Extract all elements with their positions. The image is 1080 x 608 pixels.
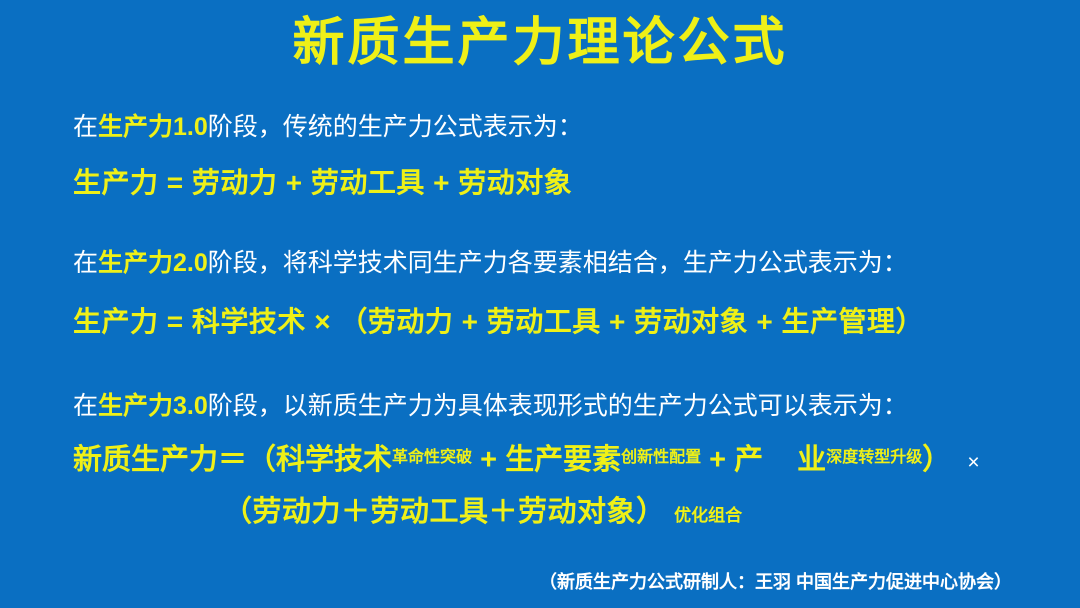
intro-1-prefix: 在 [73,113,98,141]
intro-2-highlight: 生产力2.0 [98,249,208,277]
intro-1-highlight: 生产力1.0 [98,113,208,141]
formula-3-mid-1: + 生产要素 [472,444,621,476]
formula-3-mid-3: 业 [797,444,826,476]
formula-3-line2-main: （劳动力＋劳动工具＋劳动对象） [223,496,666,528]
formula-3-sup-1: 革命性突破 [392,449,472,466]
section-2: 在生产力2.0阶段，将科学技术同生产力各要素相结合，生产力公式表示为： 生产力 … [73,248,1033,338]
formula-2: 生产力 = 科学技术 × （劳动力 + 劳动工具 + 劳动对象 + 生产管理） [73,304,1033,339]
body-content: 在生产力1.0阶段，传统的生产力公式表示为： 生产力 = 劳动力 + 劳动工具 … [73,112,1033,530]
formula-3-mid-2: + 产 [701,444,763,476]
section-3: 在生产力3.0阶段，以新质生产力为具体表现形式的生产力公式可以表示为： 新质生产… [73,391,1033,531]
intro-3-prefix: 在 [73,392,98,420]
formula-3-lead: 新质生产力＝（科学技术 [73,444,392,476]
slide-root: 新质生产力理论公式 在生产力1.0阶段，传统的生产力公式表示为： 生产力 = 劳… [0,0,1080,608]
intro-1-suffix: 阶段，传统的生产力公式表示为： [208,113,583,141]
intro-2-suffix: 阶段，将科学技术同生产力各要素相结合，生产力公式表示为： [208,249,908,277]
formula-3-times: × [967,451,979,474]
intro-line-3: 在生产力3.0阶段，以新质生产力为具体表现形式的生产力公式可以表示为： [73,391,1033,422]
formula-3-sup-3: 深度转型升级 [826,449,922,466]
formula-3-line-1: 新质生产力＝（科学技术革命性突破 + 生产要素创新性配置 + 产业深度转型升级）… [73,442,1033,478]
intro-2-prefix: 在 [73,249,98,277]
intro-line-1: 在生产力1.0阶段，传统的生产力公式表示为： [73,112,1033,143]
credit-footer: （新质生产力公式研制人：王羽 中国生产力促进中心协会） [539,568,1012,594]
formula-3-sup-2: 创新性配置 [621,449,701,466]
formula-1: 生产力 = 劳动力 + 劳动工具 + 劳动对象 [73,165,1033,200]
page-title: 新质生产力理论公式 [0,14,1080,74]
intro-3-suffix: 阶段，以新质生产力为具体表现形式的生产力公式可以表示为： [208,392,908,420]
formula-3-line-2: （劳动力＋劳动工具＋劳动对象） 优化组合 [223,494,1033,530]
intro-line-2: 在生产力2.0阶段，将科学技术同生产力各要素相结合，生产力公式表示为： [73,248,1033,279]
formula-3-line2-note: 优化组合 [674,506,742,525]
intro-3-highlight: 生产力3.0 [98,392,208,420]
formula-3-close: ） [922,444,951,476]
